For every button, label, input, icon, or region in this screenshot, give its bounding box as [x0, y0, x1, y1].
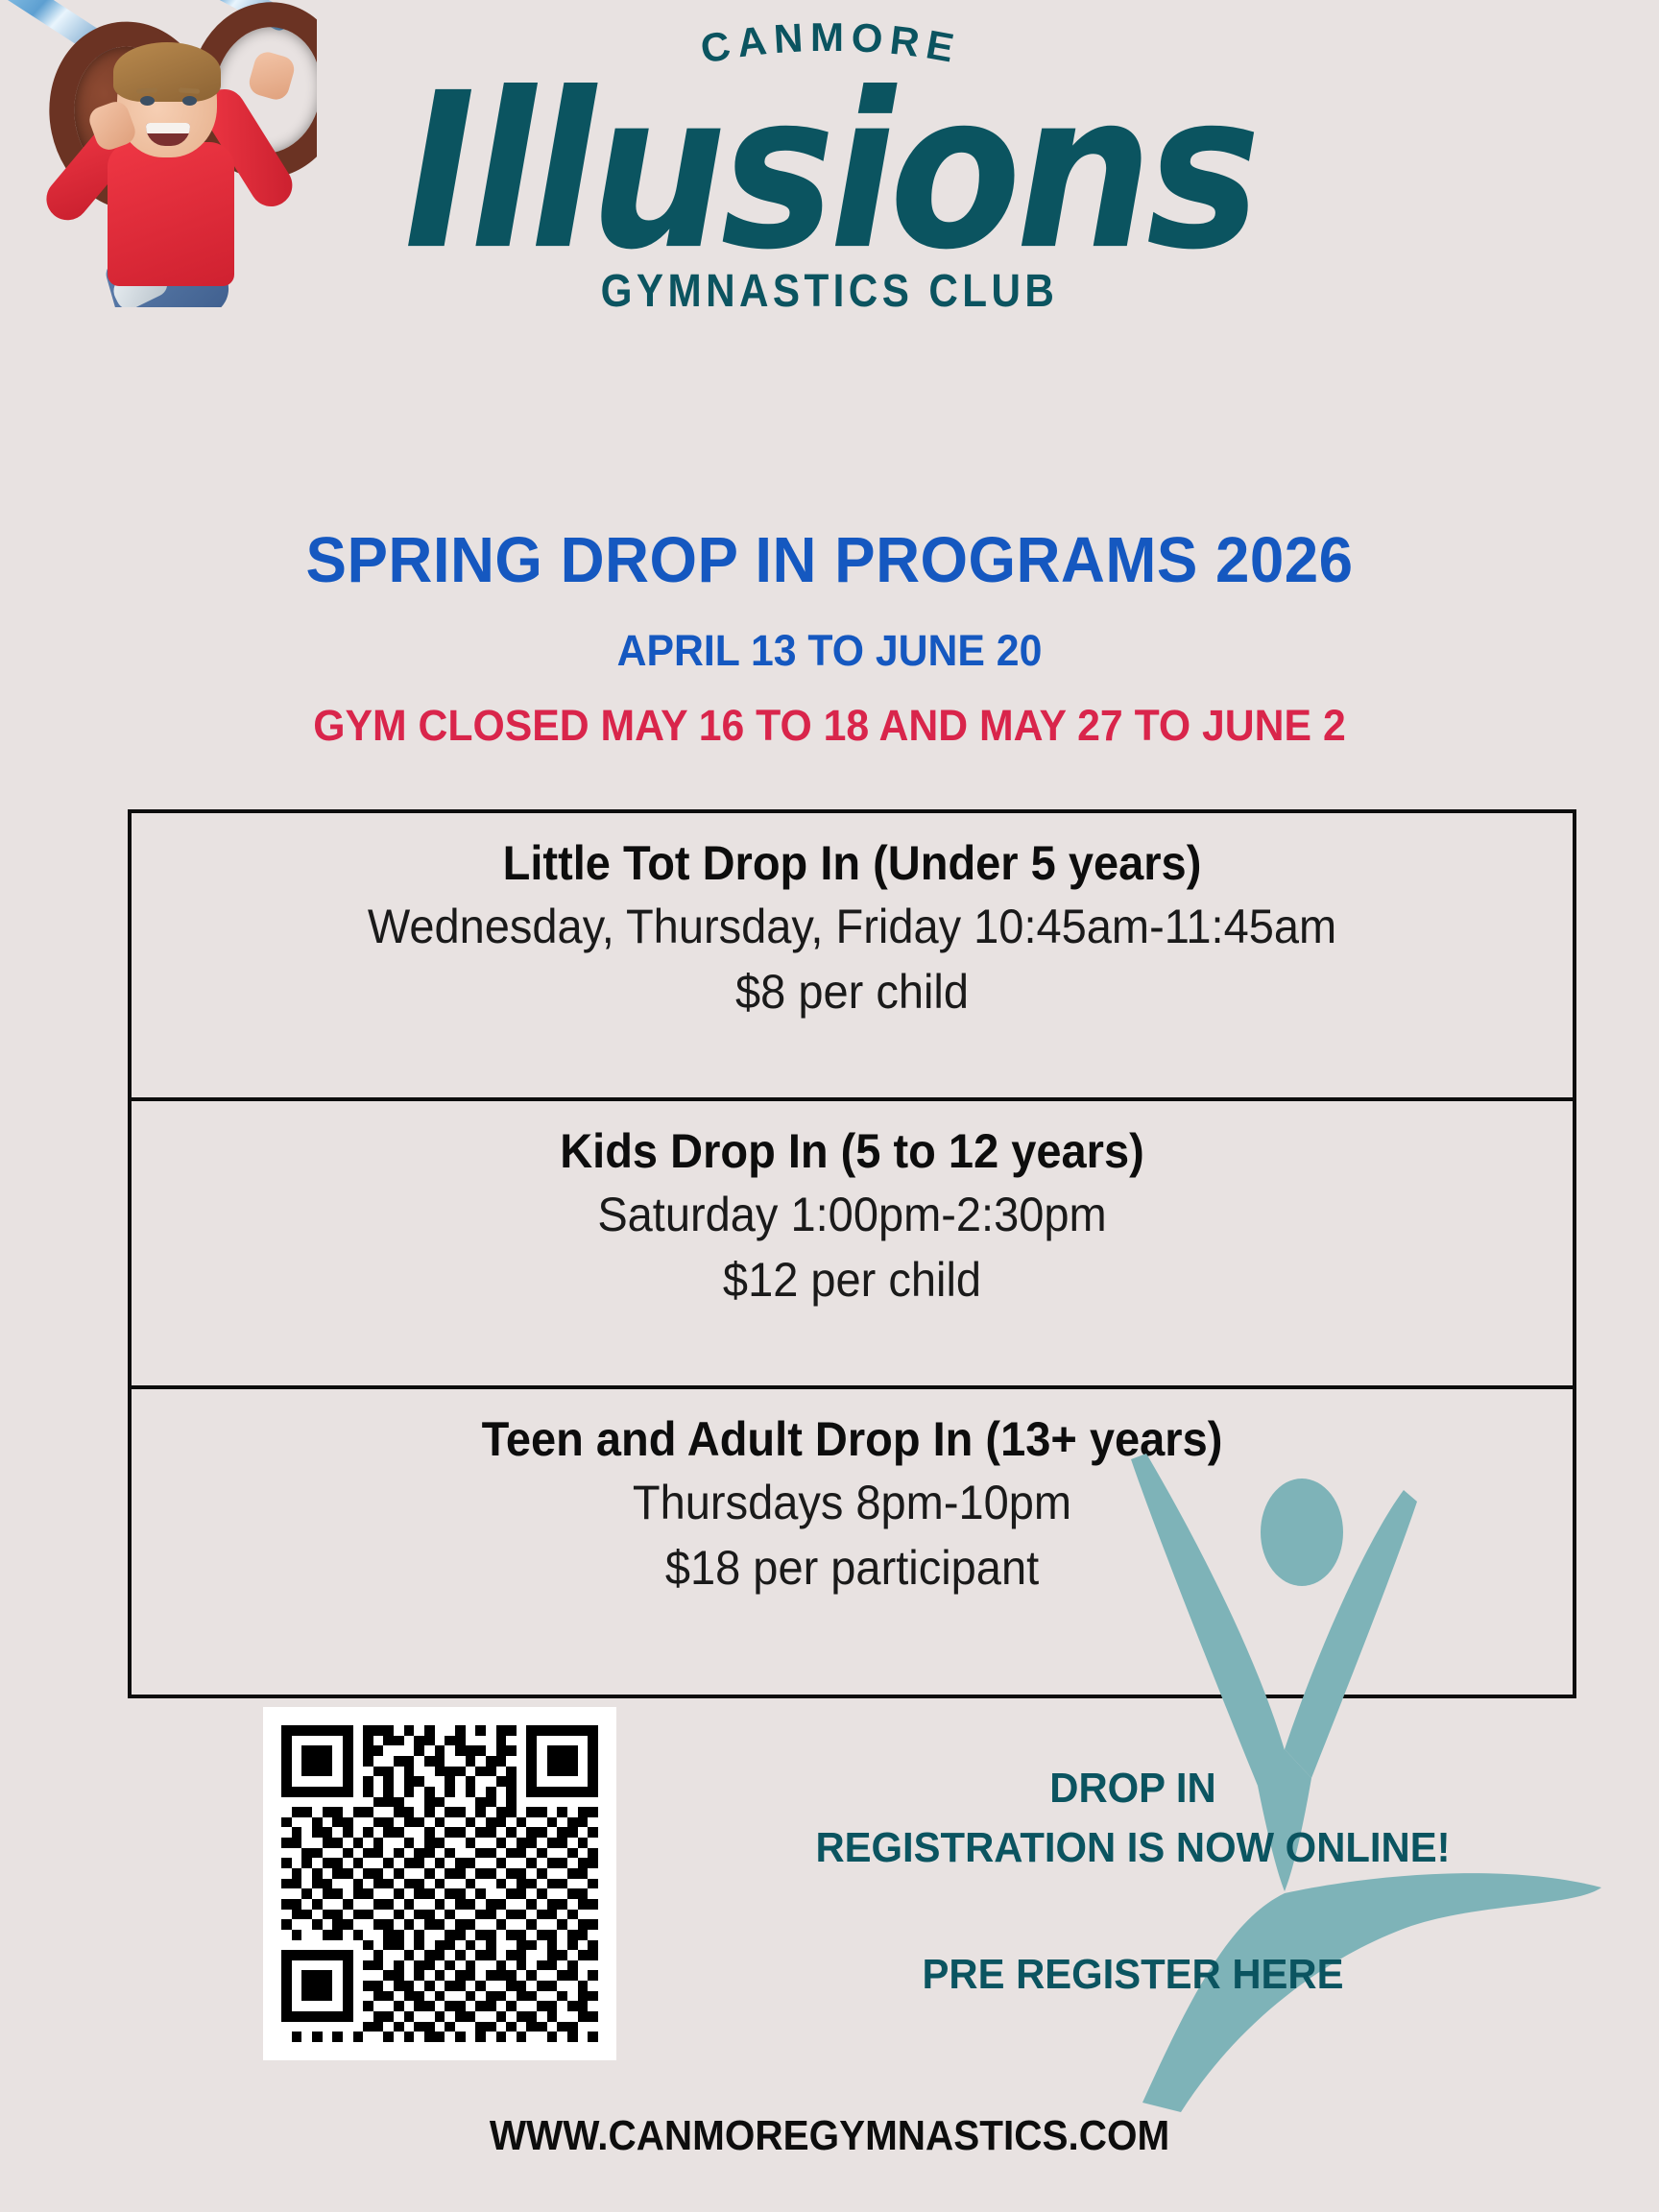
qr-module — [455, 1930, 466, 1940]
qr-module — [323, 1797, 333, 1808]
qr-module — [323, 2011, 333, 2022]
qr-module — [312, 1736, 323, 1746]
qr-module — [353, 1888, 364, 1899]
qr-module — [394, 1767, 404, 1777]
qr-module — [363, 1756, 373, 1767]
qr-module — [557, 2001, 567, 2011]
qr-module — [424, 1970, 435, 1981]
qr-module — [353, 1899, 364, 1910]
qr-module — [301, 1838, 312, 1848]
qr-module — [557, 1868, 567, 1879]
qr-module — [343, 1950, 353, 1960]
qr-module — [578, 1899, 589, 1910]
qr-module — [506, 1848, 517, 1859]
qr-module — [567, 1797, 578, 1808]
qr-module — [383, 1940, 394, 1951]
qr-module — [424, 1981, 435, 1991]
qr-module — [424, 1745, 435, 1756]
qr-module — [557, 1745, 567, 1756]
qr-module — [466, 1970, 476, 1981]
website-url[interactable]: WWW.CANMOREGYMNASTICS.COM — [66, 2112, 1593, 2160]
qr-module — [578, 1745, 589, 1756]
qr-module — [445, 1817, 455, 1828]
qr-module — [373, 1767, 384, 1777]
qr-module — [445, 1827, 455, 1838]
qr-module — [363, 1797, 373, 1808]
qr-module — [466, 1940, 476, 1951]
qr-module — [414, 1745, 424, 1756]
qr-module — [343, 1817, 353, 1828]
qr-module — [373, 1950, 384, 1960]
qr-module — [323, 1910, 333, 1920]
qr-module — [578, 1930, 589, 1940]
qr-module — [466, 1797, 476, 1808]
qr-module — [537, 1940, 547, 1951]
qr-module — [547, 1848, 558, 1859]
qr-module — [383, 2001, 394, 2011]
qr-module — [445, 1868, 455, 1879]
qr-module — [394, 1787, 404, 1797]
qr-module — [373, 1827, 384, 1838]
qr-module — [547, 1827, 558, 1838]
qr-module — [404, 1991, 415, 2002]
qr-module — [455, 1940, 466, 1951]
qr-module — [343, 2032, 353, 2042]
qr-module — [547, 1899, 558, 1910]
qr-module — [466, 1848, 476, 1859]
qr-module — [414, 1767, 424, 1777]
qr-module — [414, 1991, 424, 2002]
qr-module — [466, 1930, 476, 1940]
qr-module — [486, 1767, 496, 1777]
qr-module — [435, 1807, 445, 1817]
qr-module — [445, 1950, 455, 1960]
qr-module — [517, 1991, 527, 2002]
qr-module — [435, 1797, 445, 1808]
qr-module — [424, 1858, 435, 1868]
qr-module — [332, 1950, 343, 1960]
qr-module — [526, 1756, 537, 1767]
qr-module — [394, 1858, 404, 1868]
qr-module — [517, 1868, 527, 1879]
qr-module — [332, 1736, 343, 1746]
qr-module — [588, 1767, 598, 1777]
qr-module — [332, 1960, 343, 1971]
qr-module — [292, 1858, 302, 1868]
qr-module — [323, 1858, 333, 1868]
qr-module — [424, 1950, 435, 1960]
qr-module — [292, 1888, 302, 1899]
qr-module — [496, 2022, 507, 2032]
qr-module — [383, 2032, 394, 2042]
qr-code[interactable] — [263, 1707, 616, 2060]
qr-module — [312, 1970, 323, 1981]
qr-module — [506, 1868, 517, 1879]
qr-module — [486, 1736, 496, 1746]
qr-module — [323, 1767, 333, 1777]
qr-module — [373, 1960, 384, 1971]
qr-module — [486, 1888, 496, 1899]
qr-module — [343, 1970, 353, 1981]
qr-module — [466, 2011, 476, 2022]
qr-module — [281, 2011, 292, 2022]
qr-module — [373, 2032, 384, 2042]
page-title: SPRING DROP IN PROGRAMS 2026 — [41, 523, 1618, 597]
qr-module — [455, 1950, 466, 1960]
qr-module — [557, 1919, 567, 1930]
qr-module — [404, 1970, 415, 1981]
qr-module — [404, 1879, 415, 1889]
qr-module — [588, 2032, 598, 2042]
qr-matrix — [281, 1725, 598, 2042]
qr-module — [343, 1899, 353, 1910]
qr-module — [404, 1888, 415, 1899]
qr-module — [475, 1879, 486, 1889]
qr-module — [363, 1899, 373, 1910]
qr-module — [373, 1879, 384, 1889]
qr-module — [394, 1991, 404, 2002]
qr-module — [404, 2011, 415, 2022]
qr-module — [363, 1736, 373, 1746]
qr-module — [312, 1888, 323, 1899]
qr-module — [435, 2032, 445, 2042]
qr-module — [537, 1879, 547, 1889]
qr-module — [394, 1868, 404, 1879]
qr-module — [578, 2032, 589, 2042]
qr-module — [281, 1767, 292, 1777]
qr-module — [506, 1960, 517, 1971]
qr-module — [506, 1776, 517, 1787]
qr-module — [414, 1787, 424, 1797]
qr-module — [496, 1756, 507, 1767]
qr-module — [301, 1879, 312, 1889]
qr-module — [353, 1868, 364, 1879]
qr-module — [455, 1879, 466, 1889]
qr-module — [526, 1919, 537, 1930]
qr-module — [414, 1981, 424, 1991]
qr-module — [435, 1827, 445, 1838]
qr-module — [383, 1787, 394, 1797]
qr-module — [363, 1725, 373, 1736]
qr-module — [332, 1858, 343, 1868]
qr-module — [445, 1736, 455, 1746]
qr-module — [281, 1776, 292, 1787]
qr-module — [517, 1950, 527, 1960]
qr-module — [383, 1899, 394, 1910]
qr-module — [312, 2032, 323, 2042]
qr-module — [445, 1797, 455, 1808]
qr-module — [496, 2011, 507, 2022]
qr-module — [301, 1725, 312, 1736]
qr-module — [526, 1817, 537, 1828]
qr-module — [567, 2032, 578, 2042]
qr-module — [424, 2032, 435, 2042]
qr-module — [435, 1848, 445, 1859]
qr-module — [404, 1930, 415, 1940]
qr-module — [506, 1970, 517, 1981]
qr-module — [353, 1838, 364, 1848]
qr-module — [301, 1940, 312, 1951]
qr-module — [373, 1807, 384, 1817]
qr-module — [486, 1807, 496, 1817]
qr-module — [414, 1827, 424, 1838]
qr-module — [312, 1776, 323, 1787]
qr-module — [466, 1899, 476, 1910]
qr-module — [588, 1970, 598, 1981]
qr-module — [414, 2001, 424, 2011]
qr-module — [363, 1930, 373, 1940]
qr-module — [547, 1767, 558, 1777]
qr-module — [547, 1725, 558, 1736]
qr-module — [414, 1807, 424, 1817]
qr-module — [547, 1930, 558, 1940]
qr-module — [292, 1838, 302, 1848]
qr-module — [373, 1858, 384, 1868]
qr-module — [486, 1991, 496, 2002]
qr-module — [332, 1879, 343, 1889]
qr-module — [567, 1888, 578, 1899]
qr-module — [588, 1848, 598, 1859]
qr-module — [567, 1827, 578, 1838]
qr-module — [312, 1919, 323, 1930]
qr-module — [445, 2001, 455, 2011]
qr-module — [383, 1725, 394, 1736]
qr-module — [281, 1756, 292, 1767]
qr-module — [547, 1940, 558, 1951]
qr-module — [281, 1736, 292, 1746]
qr-module — [373, 1888, 384, 1899]
qr-module — [578, 1940, 589, 1951]
qr-module — [557, 1776, 567, 1787]
qr-module — [353, 1797, 364, 1808]
qr-module — [301, 1745, 312, 1756]
qr-module — [353, 1848, 364, 1859]
qr-module — [475, 1807, 486, 1817]
qr-module — [424, 1879, 435, 1889]
qr-module — [475, 1787, 486, 1797]
qr-module — [394, 1930, 404, 1940]
qr-module — [537, 2001, 547, 2011]
qr-module — [475, 1797, 486, 1808]
qr-module — [475, 1736, 486, 1746]
qr-module — [435, 2022, 445, 2032]
qr-module — [435, 1858, 445, 1868]
qr-module — [475, 1756, 486, 1767]
qr-module — [496, 1797, 507, 1808]
qr-module — [312, 1745, 323, 1756]
qr-module — [424, 1817, 435, 1828]
qr-module — [424, 1940, 435, 1951]
qr-module — [455, 1797, 466, 1808]
qr-module — [526, 1930, 537, 1940]
qr-module — [537, 1745, 547, 1756]
qr-module — [343, 1807, 353, 1817]
qr-module — [414, 1817, 424, 1828]
qr-module — [475, 1868, 486, 1879]
qr-module — [301, 1736, 312, 1746]
qr-module — [323, 1919, 333, 1930]
table-row: Teen and Adult Drop In (13+ years) Thurs… — [132, 1389, 1573, 1695]
qr-module — [404, 1960, 415, 1971]
qr-module — [323, 1991, 333, 2002]
qr-module — [323, 1879, 333, 1889]
qr-module — [567, 1776, 578, 1787]
qr-module — [517, 2001, 527, 2011]
qr-module — [578, 1910, 589, 1920]
program-name: Little Tot Drop In (Under 5 years) — [183, 832, 1520, 895]
qr-module — [445, 1858, 455, 1868]
qr-module — [496, 1879, 507, 1889]
qr-module — [517, 1970, 527, 1981]
qr-module — [301, 1767, 312, 1777]
qr-module — [445, 1756, 455, 1767]
qr-module — [455, 2011, 466, 2022]
qr-module — [455, 1736, 466, 1746]
qr-module — [455, 1787, 466, 1797]
qr-module — [466, 1991, 476, 2002]
qr-module — [537, 1970, 547, 1981]
qr-module — [281, 1940, 292, 1951]
qr-module — [496, 1827, 507, 1838]
qr-module — [455, 2001, 466, 2011]
qr-module — [588, 1817, 598, 1828]
program-dates: APRIL 13 TO JUNE 20 — [41, 626, 1618, 676]
qr-module — [292, 1950, 302, 1960]
qr-module — [414, 2011, 424, 2022]
qr-module — [394, 2032, 404, 2042]
qr-module — [301, 1919, 312, 1930]
qr-module — [332, 1776, 343, 1787]
qr-module — [312, 1797, 323, 1808]
qr-module — [526, 2011, 537, 2022]
qr-module — [567, 1868, 578, 1879]
qr-module — [506, 1981, 517, 1991]
qr-module — [281, 1807, 292, 1817]
qr-module — [455, 1960, 466, 1971]
qr-module — [292, 1797, 302, 1808]
qr-module — [312, 1827, 323, 1838]
qr-module — [292, 1960, 302, 1971]
qr-module — [323, 1970, 333, 1981]
qr-module — [496, 1817, 507, 1828]
qr-module — [353, 2032, 364, 2042]
qr-module — [353, 1879, 364, 1889]
qr-module — [435, 1930, 445, 1940]
qr-module — [578, 1950, 589, 1960]
qr-module — [517, 1848, 527, 1859]
qr-module — [567, 2001, 578, 2011]
qr-module — [353, 1970, 364, 1981]
qr-module — [281, 1797, 292, 1808]
qr-module — [424, 1960, 435, 1971]
qr-module — [547, 1858, 558, 1868]
qr-module — [343, 1848, 353, 1859]
qr-module — [394, 2022, 404, 2032]
qr-module — [404, 2032, 415, 2042]
qr-module — [506, 1879, 517, 1889]
qr-module — [353, 2022, 364, 2032]
qr-module — [323, 1848, 333, 1859]
qr-module — [281, 1981, 292, 1991]
qr-module — [292, 1940, 302, 1951]
qr-module — [496, 1970, 507, 1981]
qr-module — [445, 1787, 455, 1797]
qr-module — [373, 1981, 384, 1991]
qr-module — [292, 1848, 302, 1859]
qr-module — [496, 1960, 507, 1971]
qr-module — [557, 1756, 567, 1767]
qr-module — [301, 1848, 312, 1859]
qr-module — [496, 2001, 507, 2011]
qr-module — [281, 1919, 292, 1930]
qr-module — [404, 1725, 415, 1736]
qr-module — [424, 1725, 435, 1736]
qr-module — [281, 1725, 292, 1736]
qr-module — [537, 1827, 547, 1838]
qr-module — [567, 1930, 578, 1940]
qr-module — [588, 1756, 598, 1767]
qr-module — [537, 1930, 547, 1940]
qr-module — [301, 1756, 312, 1767]
qr-module — [312, 1930, 323, 1940]
qr-module — [292, 1930, 302, 1940]
qr-module — [557, 1960, 567, 1971]
qr-module — [323, 1838, 333, 1848]
qr-module — [394, 1745, 404, 1756]
qr-module — [414, 1725, 424, 1736]
qr-module — [578, 1725, 589, 1736]
qr-module — [281, 1950, 292, 1960]
qr-module — [475, 1817, 486, 1828]
program-schedule: Thursdays 8pm-10pm — [183, 1471, 1520, 1536]
qr-module — [526, 2032, 537, 2042]
qr-module — [383, 1745, 394, 1756]
qr-module — [435, 1868, 445, 1879]
qr-module — [301, 1888, 312, 1899]
qr-module — [537, 1756, 547, 1767]
qr-module — [414, 1838, 424, 1848]
qr-module — [394, 1838, 404, 1848]
qr-module — [383, 1950, 394, 1960]
qr-module — [506, 1787, 517, 1797]
qr-module — [475, 1991, 486, 2002]
qr-module — [578, 2011, 589, 2022]
program-name: Teen and Adult Drop In (13+ years) — [183, 1408, 1520, 1471]
qr-module — [404, 2001, 415, 2011]
qr-module — [312, 2001, 323, 2011]
qr-module — [292, 2011, 302, 2022]
qr-module — [486, 1960, 496, 1971]
qr-module — [466, 1858, 476, 1868]
table-row: Little Tot Drop In (Under 5 years) Wedne… — [132, 813, 1573, 1101]
qr-module — [506, 1910, 517, 1920]
qr-module — [414, 2032, 424, 2042]
qr-module — [567, 1879, 578, 1889]
qr-module — [466, 1981, 476, 1991]
qr-module — [312, 1940, 323, 1951]
qr-module — [343, 1827, 353, 1838]
qr-module — [537, 1981, 547, 1991]
qr-module — [301, 1970, 312, 1981]
qr-module — [414, 1858, 424, 1868]
qr-module — [588, 1888, 598, 1899]
qr-module — [466, 2032, 476, 2042]
qr-module — [588, 1879, 598, 1889]
qr-module — [323, 2032, 333, 2042]
qr-module — [353, 1981, 364, 1991]
qr-module — [332, 1910, 343, 1920]
qr-module — [486, 2001, 496, 2011]
